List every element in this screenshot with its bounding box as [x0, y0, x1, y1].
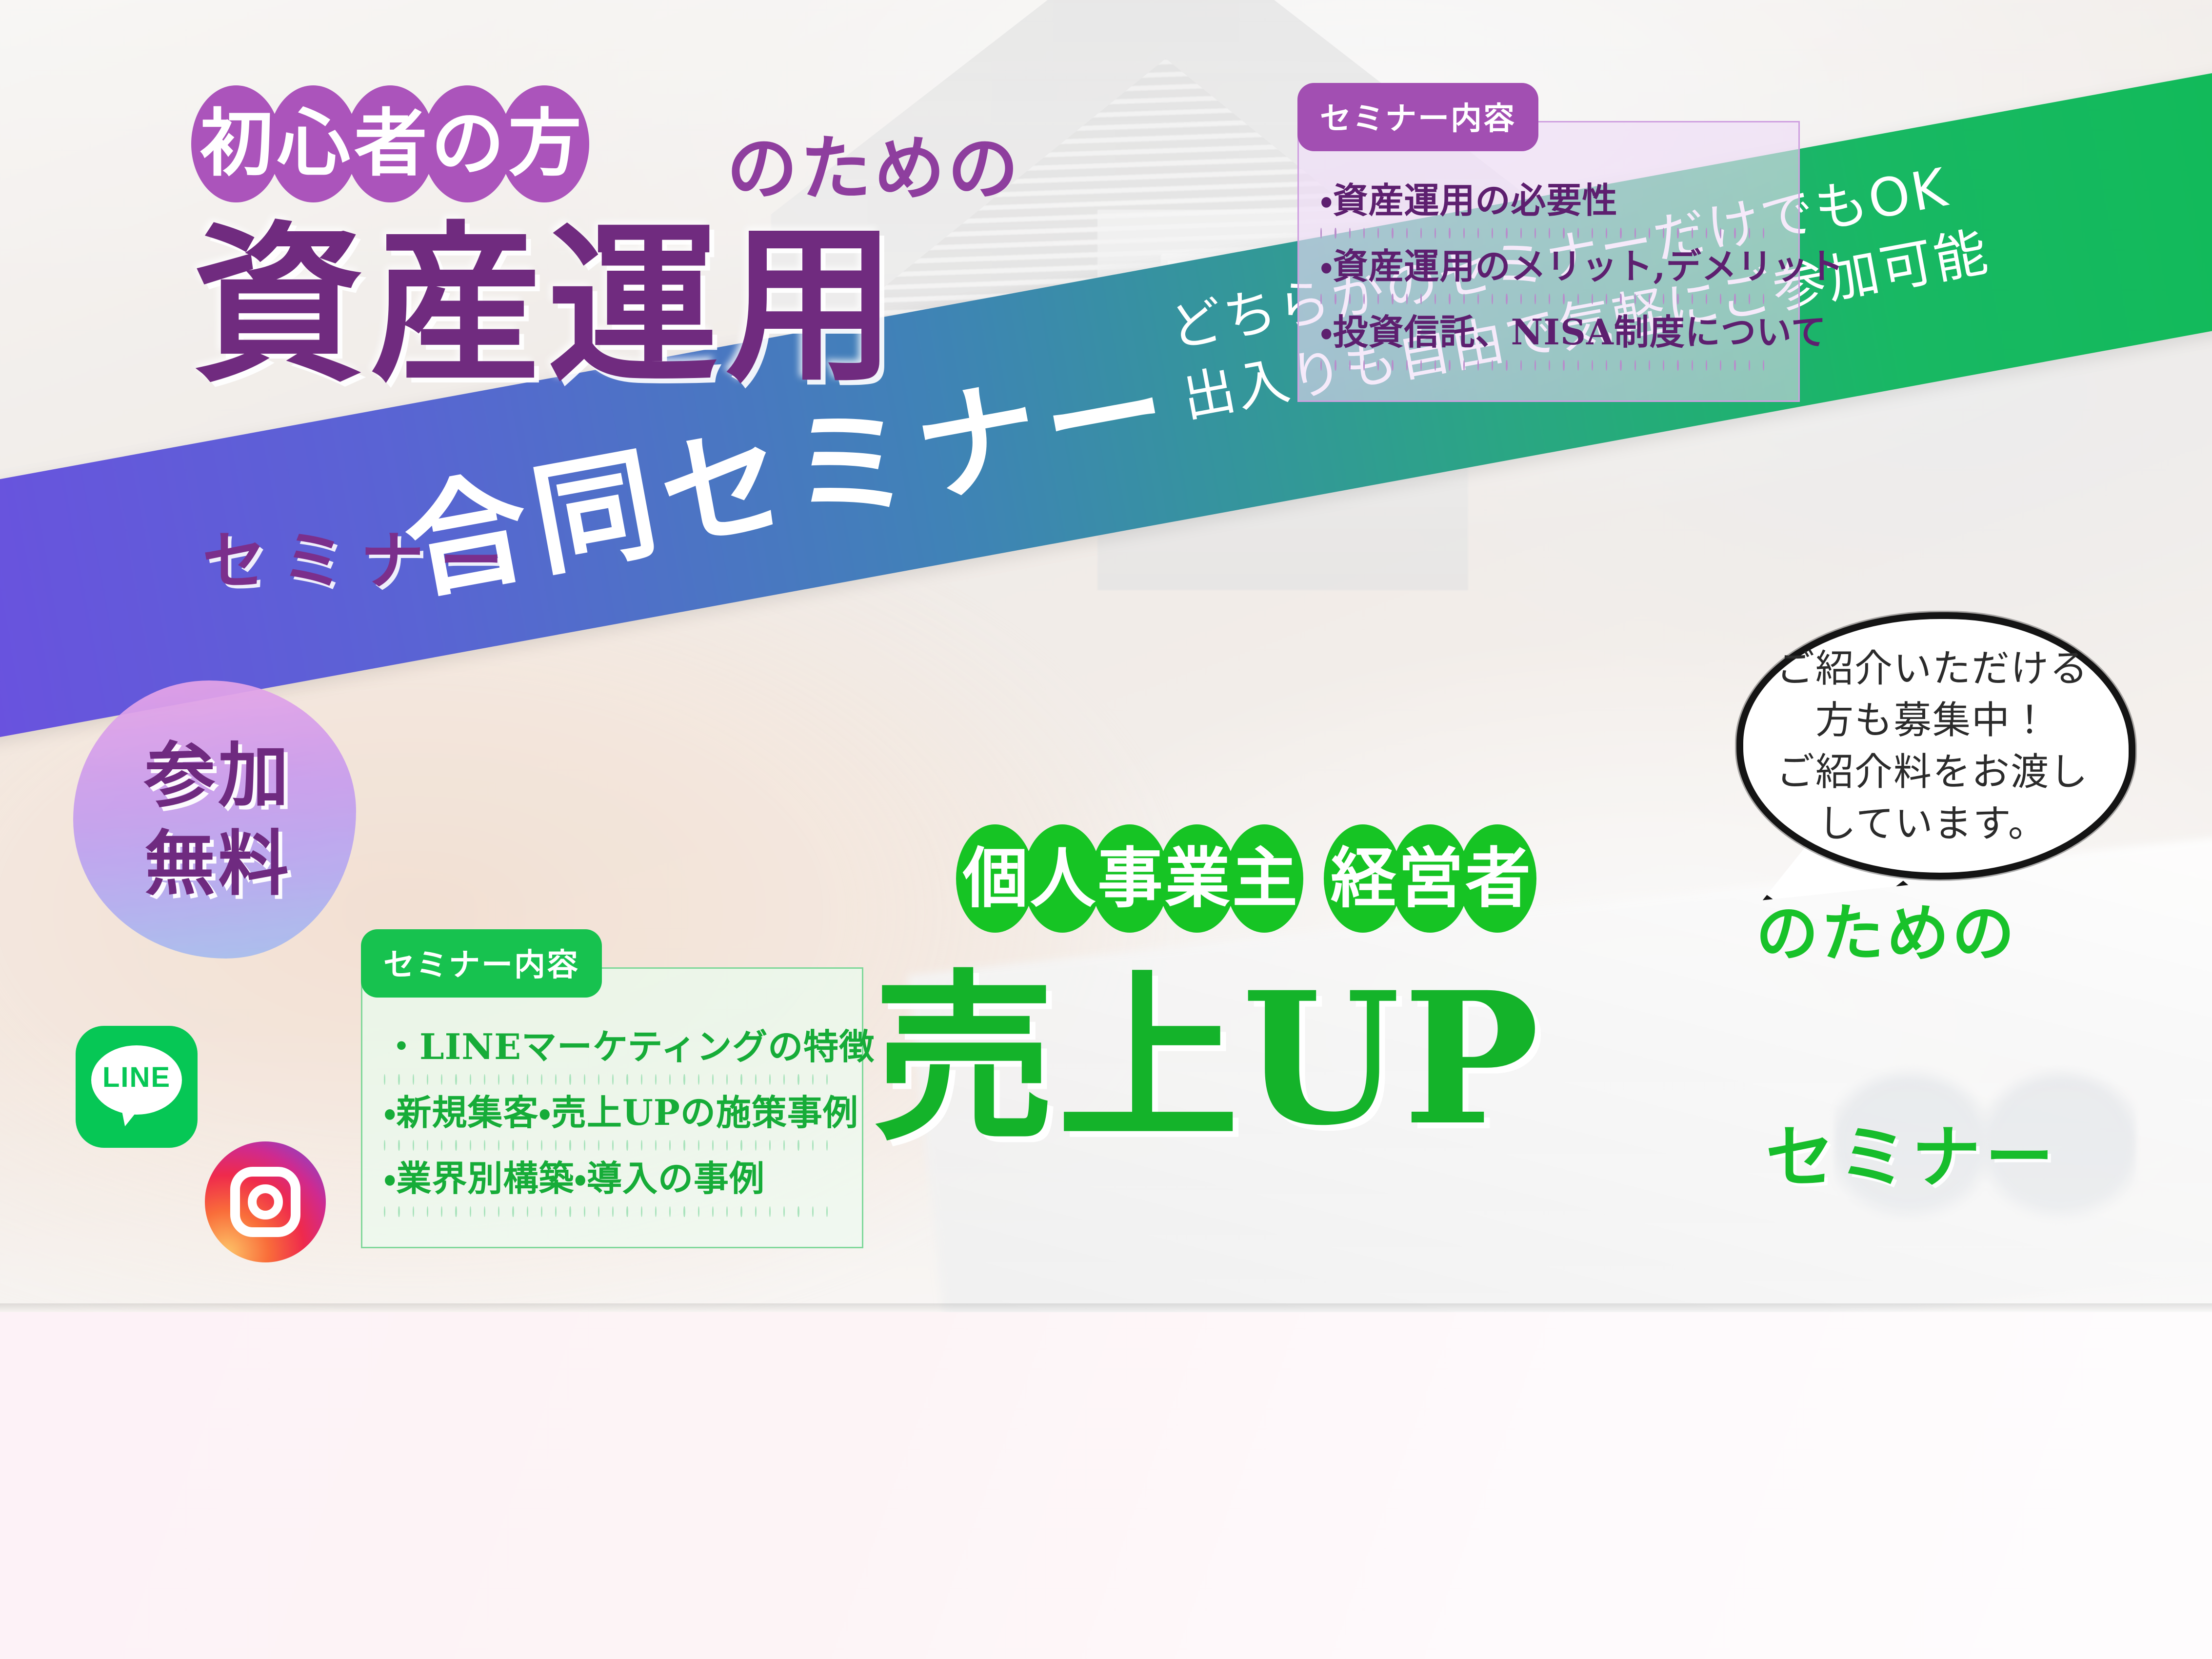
green-headline-subtitle: セミナー	[1766, 1102, 2058, 1201]
content-box-divider	[1320, 285, 1777, 313]
bubble-line: ご紹介いただける	[1762, 643, 2103, 695]
badge-char-text: 心	[277, 107, 349, 180]
content-box-divider	[384, 1198, 840, 1225]
content-box-divider	[384, 1066, 840, 1093]
beginner-badge: 初 心 者 の 方	[191, 85, 577, 202]
line-icon-label: LINE	[91, 1061, 182, 1094]
audience-badge-char: 者	[1458, 824, 1536, 933]
content-box-item: ・投資信託、NISA制度について	[1320, 313, 1777, 351]
audience-badge-char: 主	[1225, 824, 1303, 933]
content-box-body: ・LINEマーケティングの特徴 ・新規集客・売上UPの施策事例 ・業界別構築・導…	[361, 967, 863, 1248]
bubble-line: ご紹介料をお渡し	[1762, 746, 2103, 798]
content-box-item: ・資産運用の必要性	[1320, 181, 1777, 220]
free-participation-badge-text: 参加 無料	[113, 732, 323, 909]
green-headline-title: 売上UP	[873, 968, 1542, 1150]
panel-bottom-shadow	[0, 1303, 2212, 1312]
beginner-badge-char: 方	[499, 85, 589, 202]
audience-badge-char: 業	[1158, 824, 1236, 933]
free-badge-line1: 参加	[113, 732, 323, 820]
bubble-line: しています。	[1762, 798, 2103, 850]
beginner-badge-char: 者	[345, 85, 435, 202]
audience-badge-char: 経	[1324, 824, 1402, 933]
content-box-item: ・資産運用のメリット,デメリット	[1320, 247, 1777, 285]
content-box-divider	[1320, 220, 1777, 247]
audience-badge-sole-proprietor: 個 人 事 業 主	[956, 824, 1293, 933]
instagram-icon[interactable]	[205, 1141, 326, 1262]
badge-char-text: 者	[1465, 846, 1530, 911]
beginner-badge-char: 心	[268, 85, 358, 202]
content-box-item: ・LINEマーケティングの特徴	[384, 1027, 840, 1066]
badge-char-text: 初	[200, 107, 272, 180]
audience-badge-char: 営	[1391, 824, 1469, 933]
content-box-tab-label: セミナー内容	[361, 929, 602, 998]
instagram-icon-lens	[248, 1184, 283, 1219]
purple-headline-suffix: のための	[727, 111, 1021, 214]
badge-char-text: 業	[1165, 846, 1229, 911]
line-icon[interactable]: LINE	[76, 1026, 198, 1148]
badge-char-text: の	[431, 107, 503, 180]
content-box-divider	[384, 1132, 840, 1159]
audience-badge-char: 人	[1023, 824, 1101, 933]
badge-char-text: 事	[1097, 846, 1162, 911]
bubble-line: 方も募集中！	[1762, 695, 2103, 746]
badge-char-text: 主	[1232, 846, 1296, 911]
content-box-item: ・新規集客・売上UPの施策事例	[384, 1093, 840, 1132]
badge-char-text: 人	[1030, 846, 1095, 911]
badge-char-text: 者	[354, 107, 426, 180]
audience-badge-char: 事	[1091, 824, 1169, 933]
purple-headline-title: 資産運用	[193, 220, 903, 390]
audience-badge-char: 個	[956, 824, 1034, 933]
badge-char-text: 個	[963, 846, 1027, 911]
content-box-divider	[1320, 352, 1777, 379]
seminar-flyer: 初 心 者 の 方 のための 資産運用 セミナー セミナー内容 ・資産運用の必要…	[0, 0, 2212, 1659]
beginner-badge-char: 初	[191, 85, 281, 202]
green-headline-suffix: のための	[1756, 883, 2017, 973]
free-badge-line2: 無料	[113, 820, 323, 908]
speech-bubble-text: ご紹介いただける 方も募集中！ ご紹介料をお渡し しています。	[1762, 643, 2103, 850]
hero-image-panel: 初 心 者 の 方 のための 資産運用 セミナー セミナー内容 ・資産運用の必要…	[0, 0, 2212, 1312]
beginner-badge-char: の	[422, 85, 512, 202]
purple-headline-subtitle: セミナー	[202, 510, 518, 601]
line-icon-tail	[120, 1104, 143, 1126]
content-box-item: ・業界別構築・導入の事例	[384, 1159, 840, 1198]
content-box-tab-label: セミナー内容	[1297, 83, 1538, 151]
content-box-body: ・資産運用の必要性 ・資産運用のメリット,デメリット ・投資信託、NISA制度に…	[1297, 121, 1800, 402]
audience-badge-executive: 経 営 者	[1324, 824, 1526, 933]
event-info-bar: 日時 4/21 月 19:00-20:30 (開場：18:50〜) 場所 ソシラ…	[0, 1312, 2212, 1659]
badge-char-text: 方	[508, 107, 580, 180]
badge-char-text: 経	[1331, 846, 1395, 911]
badge-char-text: 営	[1398, 846, 1462, 911]
target-audience-badges: 個 人 事 業 主 経 営 者	[956, 824, 1557, 933]
